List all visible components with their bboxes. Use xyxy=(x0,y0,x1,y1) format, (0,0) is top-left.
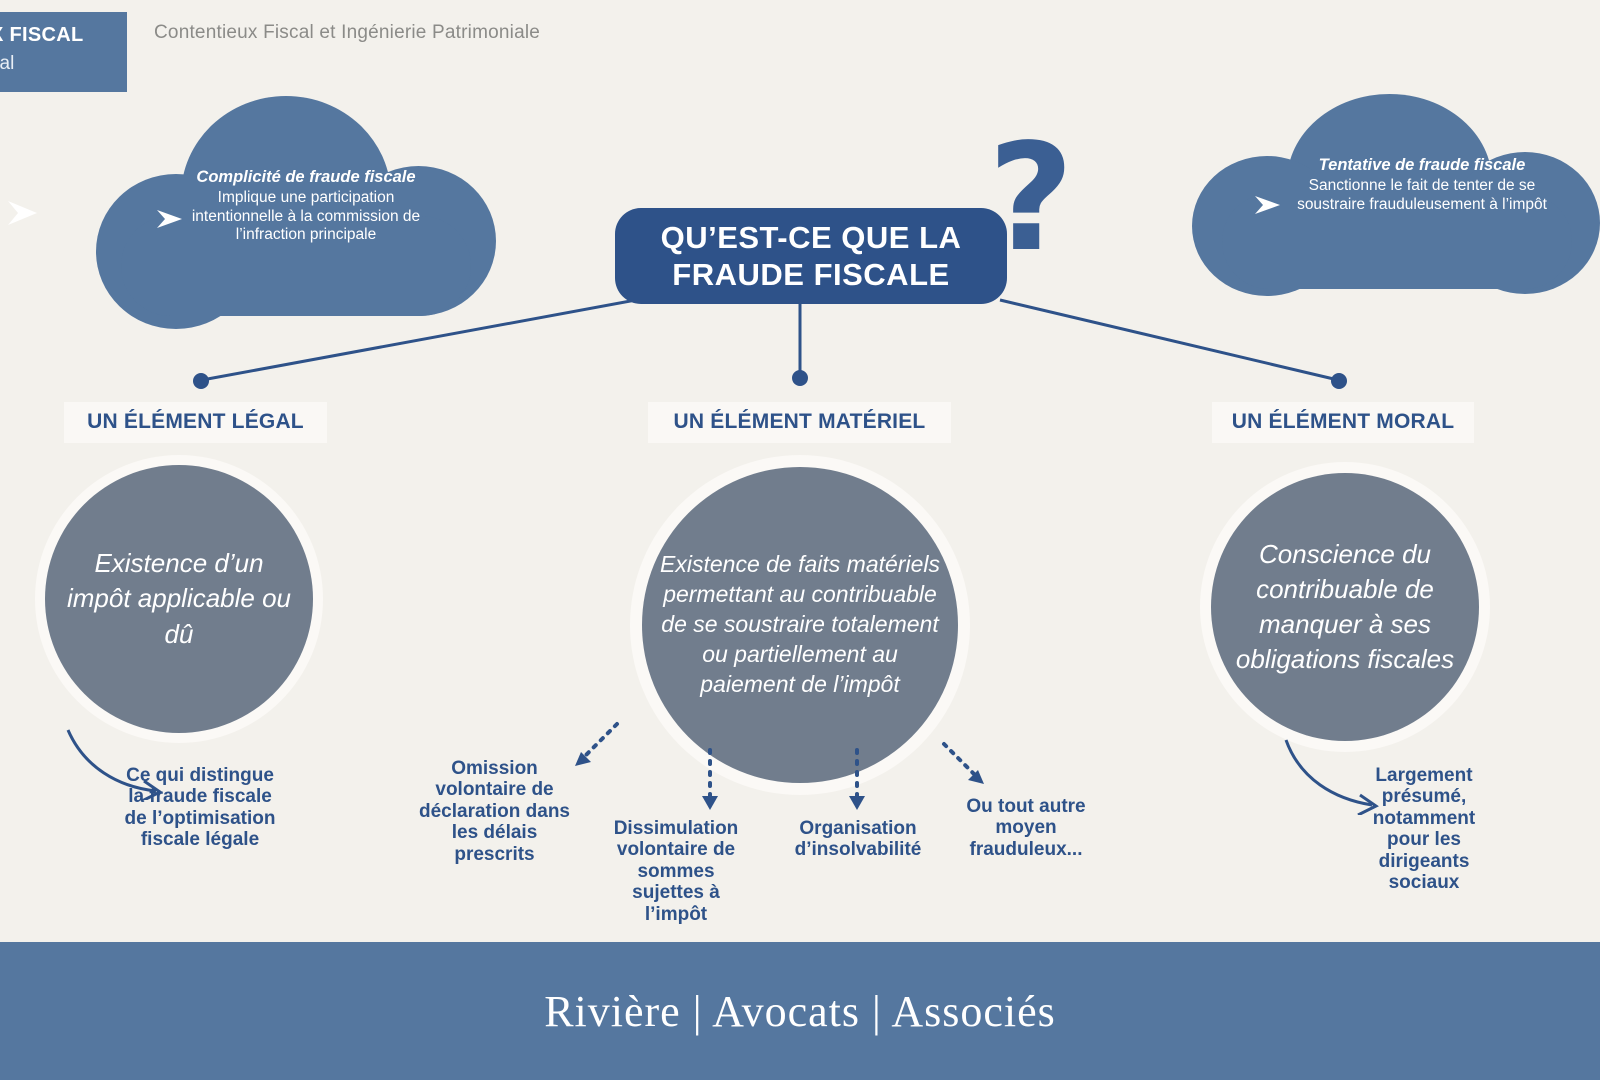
chevron-right-icon xyxy=(156,208,184,230)
cloud-title: Complicité de fraude fiscale xyxy=(174,168,438,187)
curved-arrow-icon xyxy=(1278,735,1398,815)
central-title-text: QU’EST-CE QUE LA FRAUDE FISCALE xyxy=(615,219,1007,293)
cloud-title: Tentative de fraude fiscale xyxy=(1274,156,1570,175)
cloud-body-text: Implique une participation intentionnell… xyxy=(174,189,438,244)
cloud-text-block: Complicité de fraude fiscale Implique un… xyxy=(96,168,496,244)
central-title-box: QU’EST-CE QUE LA FRAUDE FISCALE xyxy=(615,208,1007,304)
dotted-arrow-icon xyxy=(698,748,722,820)
cloud-body-text: Sanctionne le fait de tenter de se soust… xyxy=(1274,177,1570,214)
chevron-right-icon xyxy=(1254,194,1282,216)
dotted-arrow-icon xyxy=(565,720,625,780)
dotted-arrow-icon xyxy=(845,748,869,820)
infographic-canvas: X FISCAL cal Contentieux Fiscal et Ingén… xyxy=(0,0,1600,1080)
curved-arrow-icon xyxy=(60,725,180,800)
dotted-arrow-icon xyxy=(938,740,998,802)
